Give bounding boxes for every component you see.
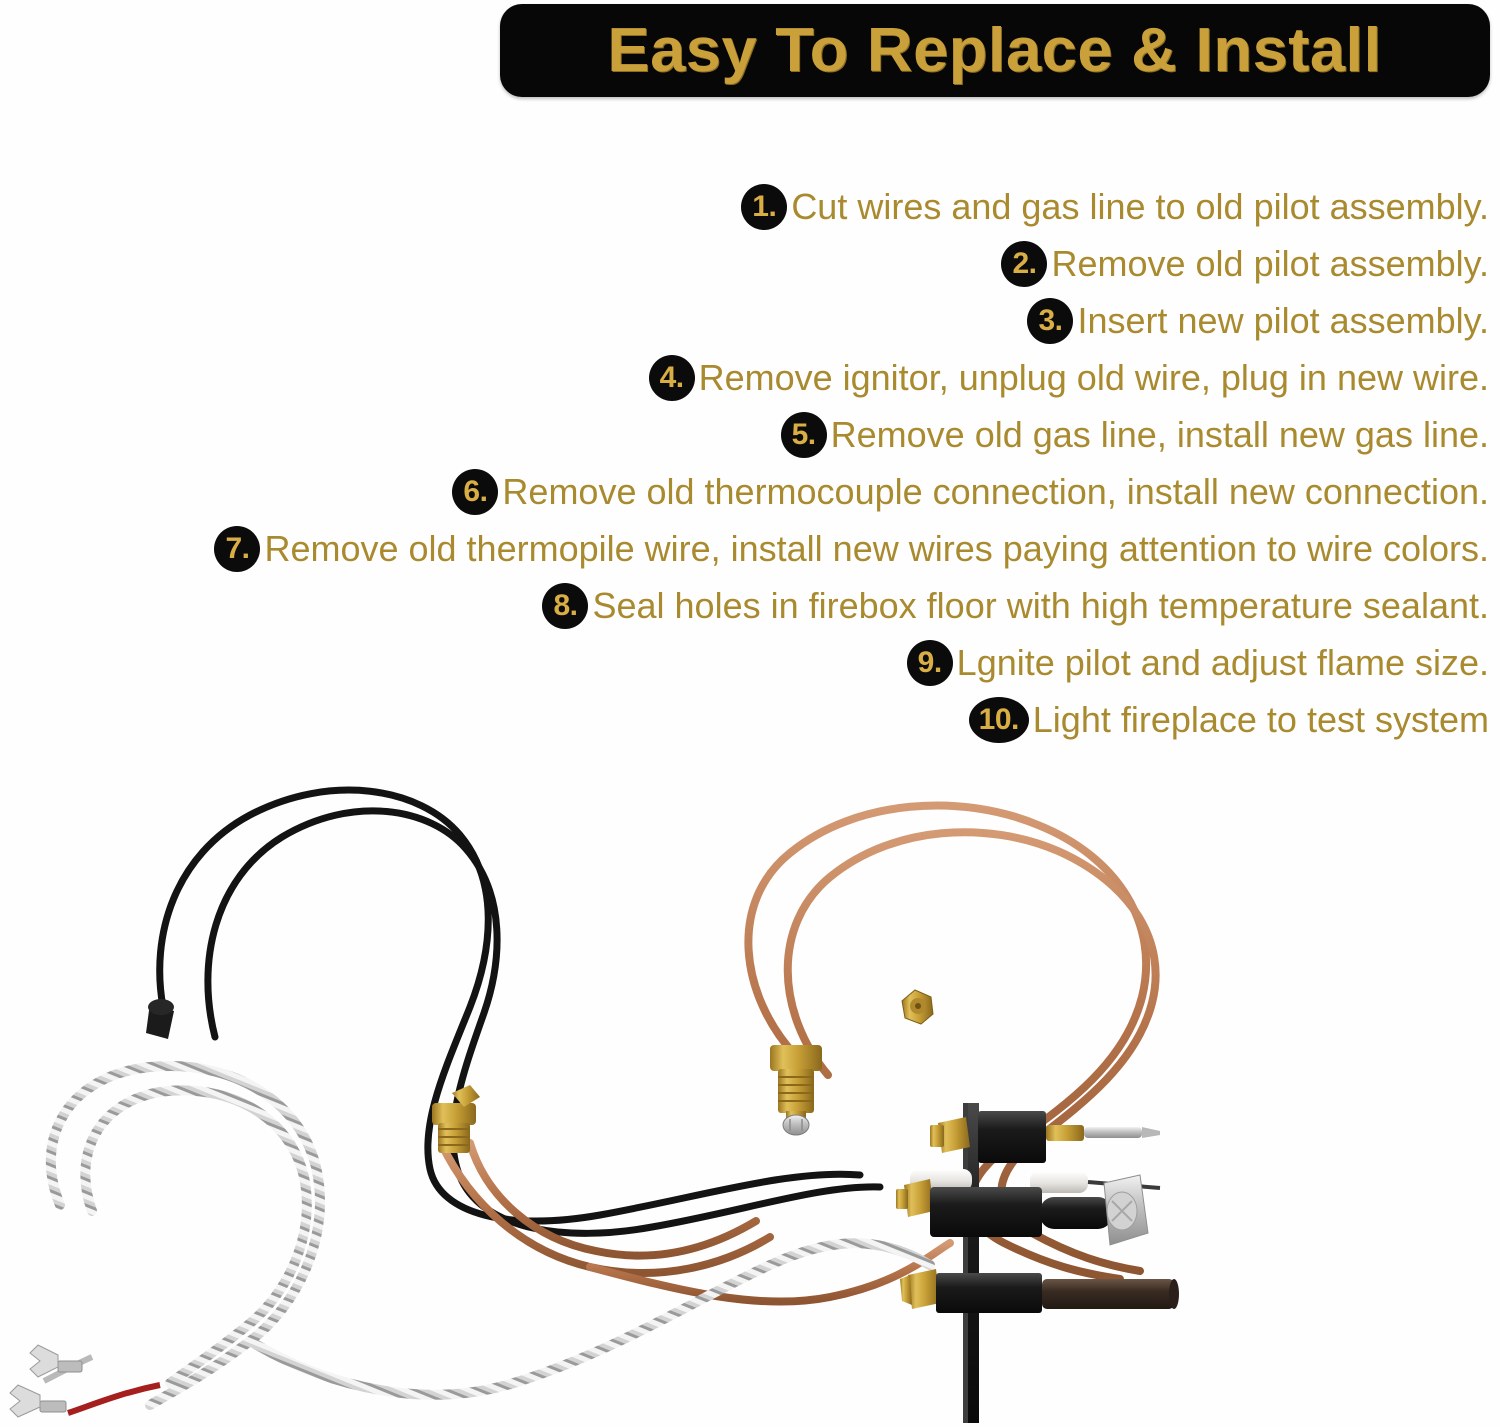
banner-title: Easy To Replace & Install	[608, 15, 1382, 86]
pilot-assembly	[896, 1103, 1179, 1423]
list-item: 5. Remove old gas line, install new gas …	[781, 406, 1489, 463]
step-number-badge: 1.	[741, 184, 787, 230]
step-number-badge: 9.	[907, 640, 953, 686]
thermocouple-brass-fitting	[770, 1045, 822, 1135]
installation-steps-list: 1. Cut wires and gas line to old pilot a…	[0, 178, 1489, 748]
list-item: 8. Seal holes in firebox floor with high…	[542, 577, 1489, 634]
step-text: Insert new pilot assembly.	[1077, 303, 1489, 339]
list-item: 1. Cut wires and gas line to old pilot a…	[741, 178, 1489, 235]
step-number-badge: 4.	[649, 355, 695, 401]
step-number-badge: 3.	[1027, 298, 1073, 344]
step-text: Light fireplace to test system	[1033, 702, 1489, 738]
list-item: 3. Insert new pilot assembly.	[1027, 292, 1489, 349]
spade-terminal-red	[10, 1385, 66, 1417]
pilot-body-upper	[978, 1111, 1046, 1163]
product-photo	[0, 745, 1500, 1427]
pilot-hood-tube	[1040, 1197, 1112, 1229]
ignitor-wire	[146, 790, 880, 1233]
step-number-badge: 6.	[452, 469, 498, 515]
step-number-badge: 7.	[214, 526, 260, 572]
step-text: Remove old thermocouple connection, inst…	[502, 474, 1489, 510]
step-text: Seal holes in firebox floor with high te…	[592, 588, 1489, 624]
thermocouple-nut	[896, 1179, 934, 1217]
step-number-badge: 10.	[969, 697, 1029, 743]
flame-shield	[1104, 1175, 1148, 1245]
list-item: 10. Light fireplace to test system	[969, 691, 1489, 748]
step-text: Remove old pilot assembly.	[1051, 246, 1489, 282]
step-number-badge: 8.	[542, 583, 588, 629]
step-text: Cut wires and gas line to old pilot asse…	[791, 189, 1489, 225]
pilot-body-main	[930, 1187, 1042, 1237]
step-text: Remove old gas line, install new gas lin…	[831, 417, 1489, 453]
step-text: Lgnite pilot and adjust flame size.	[957, 645, 1489, 681]
step-text: Remove ignitor, unplug old wire, plug in…	[699, 360, 1489, 396]
list-item: 2. Remove old pilot assembly.	[1001, 235, 1489, 292]
list-item: 9. Lgnite pilot and adjust flame size.	[907, 634, 1489, 691]
list-item: 6. Remove old thermocouple connection, i…	[452, 463, 1489, 520]
step-number-badge: 2.	[1001, 241, 1047, 287]
header-banner: Easy To Replace & Install	[500, 4, 1490, 97]
ignitor-electrode	[1046, 1125, 1160, 1141]
step-number-badge: 5.	[781, 412, 827, 458]
brass-orifice	[902, 990, 933, 1024]
gas-inlet-fitting	[930, 1117, 970, 1153]
list-item: 7. Remove old thermopile wire, install n…	[214, 520, 1489, 577]
list-item: 4. Remove ignitor, unplug old wire, plug…	[649, 349, 1489, 406]
step-text: Remove old thermopile wire, install new …	[264, 531, 1489, 567]
thermopile-rod	[900, 1269, 1179, 1313]
